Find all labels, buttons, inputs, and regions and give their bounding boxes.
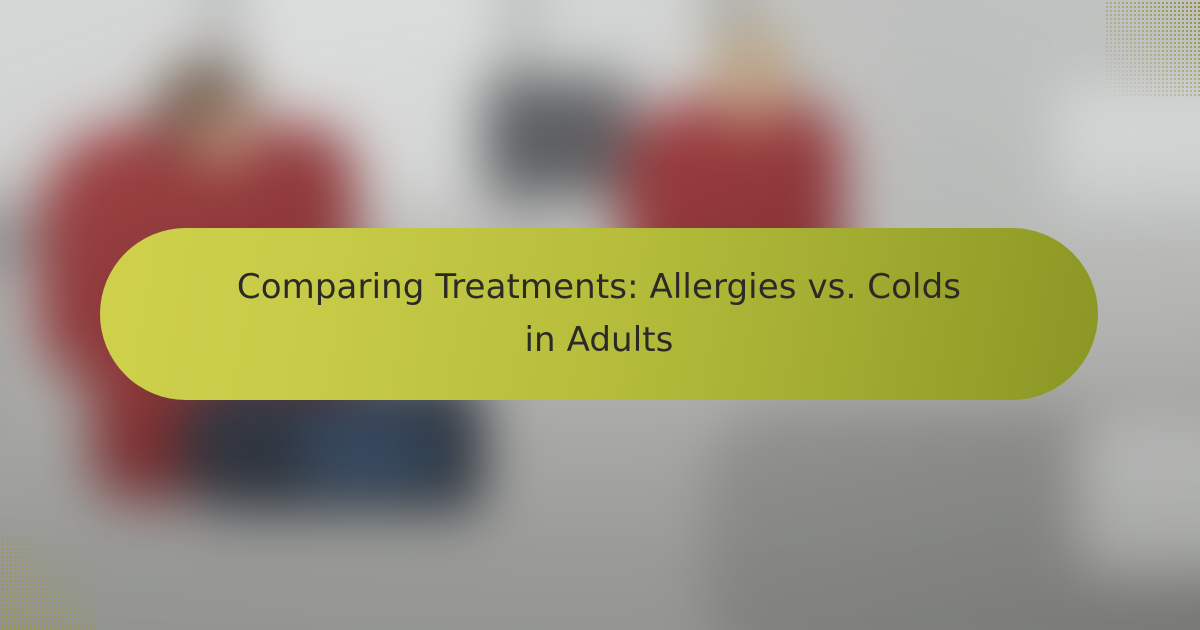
- banner-card: Comparing Treatments: Allergies vs. Cold…: [0, 0, 1200, 630]
- person-right-face: [725, 72, 778, 127]
- title-pill: Comparing Treatments: Allergies vs. Cold…: [100, 228, 1098, 400]
- monitor-screen: [483, 77, 631, 194]
- sofa-arm: [1077, 416, 1200, 575]
- person-left-face: [189, 104, 255, 163]
- page-title: Comparing Treatments: Allergies vs. Cold…: [219, 261, 979, 367]
- navy-bag-highlight: [303, 418, 441, 488]
- counter-surface: [1056, 87, 1200, 214]
